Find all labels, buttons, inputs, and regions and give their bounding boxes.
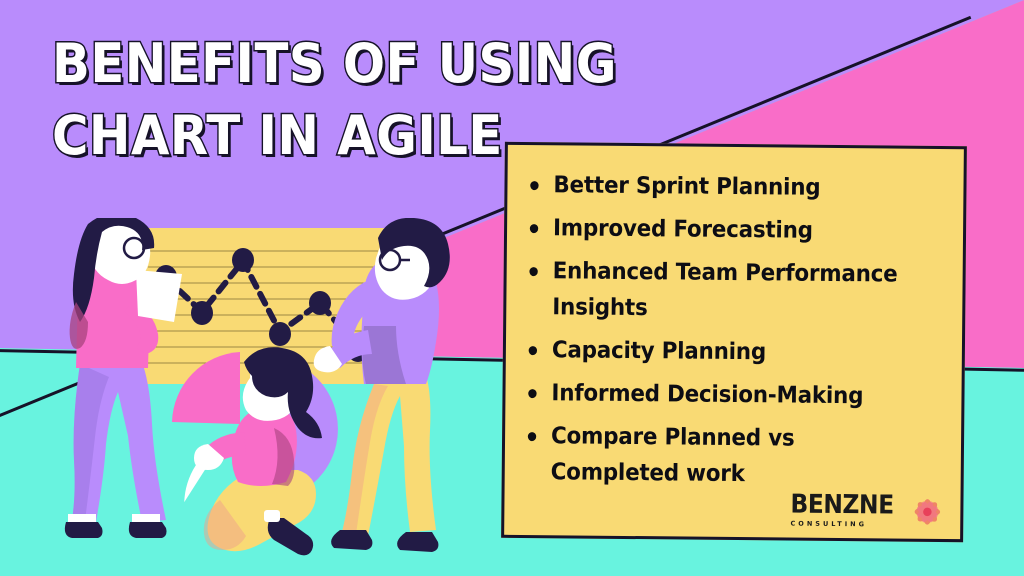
logo-text-group: BENZNE CONSULTING	[791, 493, 906, 529]
benefits-panel: Better Sprint Planning Improved Forecast…	[501, 142, 967, 542]
list-item: Capacity Planning	[552, 332, 917, 371]
list-item: Enhanced Team Performance Insights	[552, 253, 917, 328]
logo-tagline: CONSULTING	[791, 520, 867, 529]
benefits-list: Better Sprint Planning Improved Forecast…	[505, 145, 964, 494]
list-item: Improved Forecasting	[553, 210, 918, 249]
benzne-logo: BENZNE CONSULTING	[791, 493, 945, 529]
logo-wordmark: BENZNE	[791, 493, 894, 519]
list-item: Better Sprint Planning	[553, 167, 918, 206]
flower-mandala-icon	[910, 495, 944, 529]
slide-canvas: BENEFITS OF USING CHART IN AGILE	[0, 0, 1024, 576]
team-analyzing-charts-illustration	[58, 218, 488, 558]
list-item: Compare Planned vs Completed work	[551, 418, 916, 493]
list-item: Informed Decision-Making	[551, 375, 916, 414]
